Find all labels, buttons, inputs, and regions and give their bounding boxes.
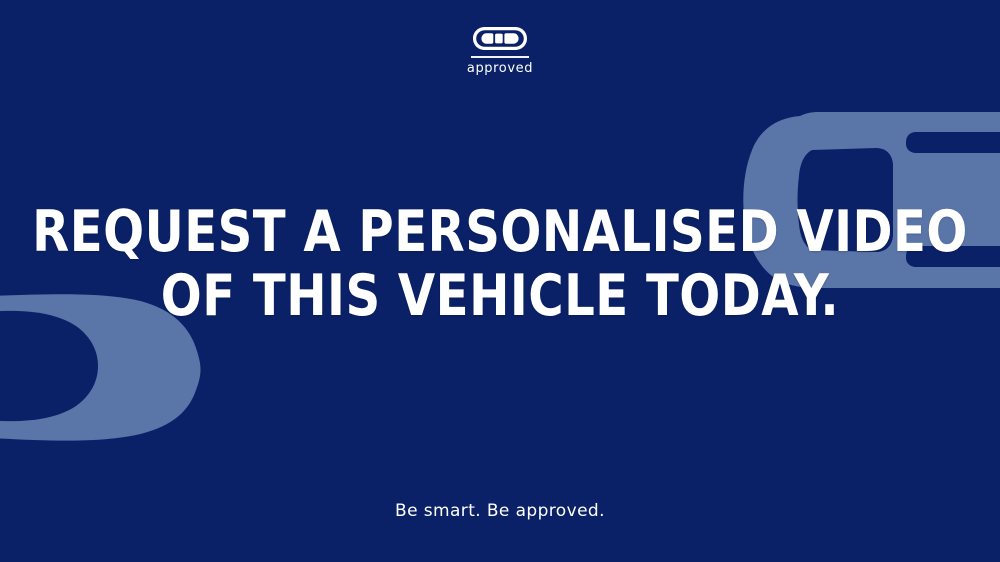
logo-wordmark: approved [467, 62, 533, 75]
brand-tagline: Be smart. Be approved. [0, 503, 1000, 520]
headline-line-2: OF THIS VEHICLE TODAY. [30, 264, 970, 328]
approved-car-logo-icon [471, 26, 529, 51]
page-title: REQUEST A PERSONALISED VIDEO OF THIS VEH… [0, 200, 1000, 329]
headline-line-1: REQUEST A PERSONALISED VIDEO [30, 200, 970, 264]
logo-divider-rule [471, 56, 529, 58]
brand-logo: approved [0, 26, 1000, 75]
promo-banner: approved REQUEST A PERSONALISED VIDEO OF… [0, 0, 1000, 562]
